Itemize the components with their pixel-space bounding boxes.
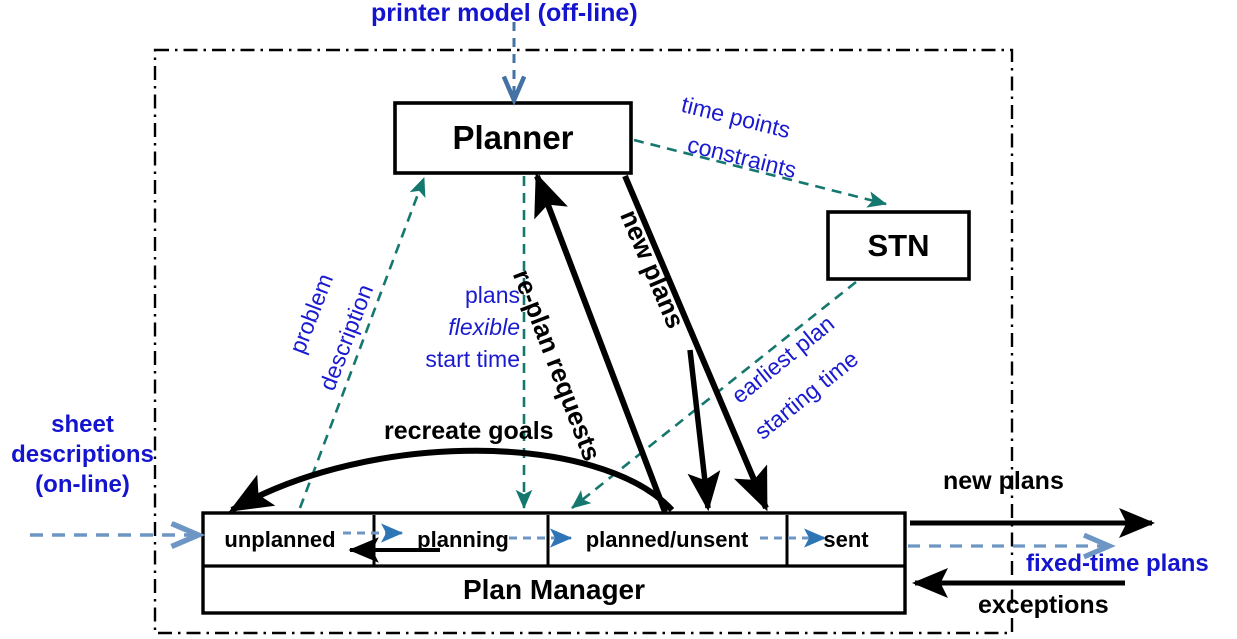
sheet-label: sheet	[0, 412, 165, 437]
descriptions-label: descriptions	[0, 442, 165, 467]
state-sent-label: sent	[790, 515, 902, 565]
recreate-goals-label: recreate goals	[384, 418, 554, 444]
plans-label: plans	[420, 283, 520, 307]
new-plans-out-label: new plans	[943, 468, 1064, 494]
state-unplanned-label: unplanned	[206, 515, 354, 565]
planner-box-label: Planner	[395, 103, 631, 173]
plan-manager-box-label: Plan Manager	[203, 566, 905, 613]
on-line-label: (on-line)	[0, 472, 165, 497]
start-time-label: start time	[400, 347, 520, 371]
recreate-goals-arrow	[232, 451, 672, 510]
diagram-canvas: Planner STN Plan Manager unplanned plann…	[0, 0, 1237, 639]
state-planning-label: planning	[398, 515, 528, 565]
state-planned-unsent-label: planned/unsent	[562, 515, 772, 565]
printer-model-label: printer model (off-line)	[371, 0, 638, 26]
flexible-label: flexible	[410, 315, 520, 339]
stn-to-plan-manager-arrow	[690, 350, 708, 508]
exceptions-label: exceptions	[978, 592, 1109, 618]
problem-description-arrow	[300, 178, 424, 508]
fixed-time-plans-label: fixed-time plans	[1026, 551, 1209, 576]
stn-box-label: STN	[828, 212, 969, 279]
